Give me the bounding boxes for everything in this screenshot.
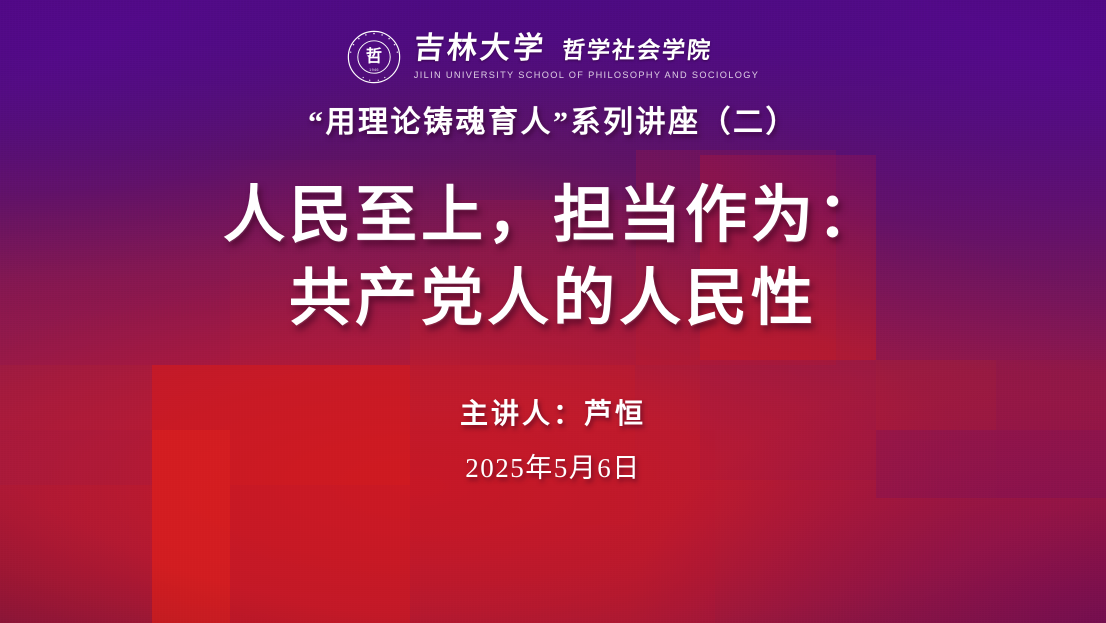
university-name-cn: 吉林大学 [412,34,547,64]
wordmark-chinese: 吉林大学 哲学社会学院 [414,34,712,66]
institution-lockup: 哲 1946 吉林大学 哲学社会学院 JILIN UNIVERSITY SCHO… [347,29,759,85]
main-title: 人民至上，担当作为： 共产党人的人民性 [223,175,883,341]
svg-text:哲: 哲 [366,46,382,65]
university-seal-icon: 哲 1946 [347,30,401,84]
speaker-line: 主讲人：芦恒 [460,401,646,429]
main-title-line-2: 共产党人的人民性 [223,258,883,341]
wordmark-group: 吉林大学 哲学社会学院 JILIN UNIVERSITY SCHOOL OF P… [414,34,759,80]
main-title-line-1: 人民至上，担当作为： [223,175,883,258]
poster-content: 哲 1946 吉林大学 哲学社会学院 JILIN UNIVERSITY SCHO… [0,0,1106,623]
lecture-date: 2025年5月6日 [465,455,641,482]
lecture-series-line: “用理论铸魂育人”系列讲座（二） [308,106,798,140]
school-name-cn: 哲学社会学院 [561,39,713,62]
lecture-poster: 哲 1946 吉林大学 哲学社会学院 JILIN UNIVERSITY SCHO… [0,0,1106,623]
institution-name-en: JILIN UNIVERSITY SCHOOL OF PHILOSOPHY AN… [414,71,759,80]
svg-text:1946: 1946 [369,68,379,72]
